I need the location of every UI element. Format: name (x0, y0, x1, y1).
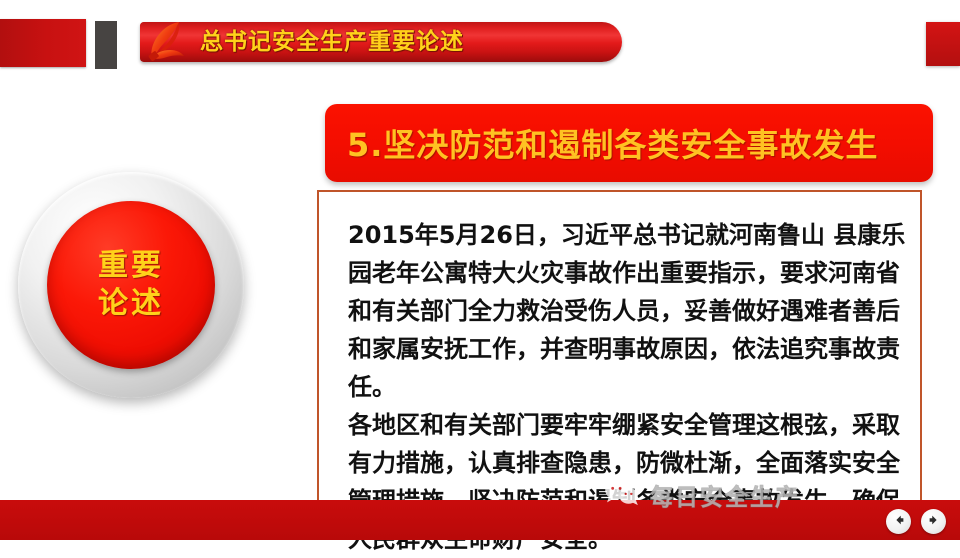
badge-inner-circle: 重要 论述 (47, 201, 215, 369)
hammer-and-sickle-icon (140, 15, 192, 67)
slide-navigation (886, 509, 946, 534)
important-statement-badge: 重要 论述 (18, 172, 244, 398)
footer-bar (0, 500, 960, 540)
arrow-left-icon (892, 512, 906, 531)
wechat-icon (603, 479, 641, 511)
prev-slide-button[interactable] (886, 509, 911, 534)
badge-label-line1: 重要 (98, 247, 164, 285)
badge-label-line2: 论述 (98, 285, 164, 323)
arrow-right-icon (927, 512, 941, 531)
section-title-bar: 5.坚决防范和遏制各类安全事故发生 (325, 104, 933, 182)
section-title-text: 5.坚决防范和遏制各类安全事故发生 (347, 120, 878, 166)
watermark-text: 每日安全生产 (650, 478, 800, 512)
next-slide-button[interactable] (921, 509, 946, 534)
body-paragraph-1: 2015年5月26日，习近平总书记就河南鲁山 县康乐园老年公寓特大火灾事故作出重… (348, 216, 908, 406)
watermark: 每日安全生产 (603, 478, 800, 512)
header-banner-title: 总书记安全生产重要论述 (200, 25, 600, 59)
header-right-red-block (926, 22, 960, 66)
header-left-red-block (0, 19, 86, 67)
slide-root: 总书记安全生产重要论述 重要 论述 5.坚决防范和遏制各类安全事故发生 2015… (0, 0, 960, 540)
header-dark-divider-bar (95, 21, 117, 69)
